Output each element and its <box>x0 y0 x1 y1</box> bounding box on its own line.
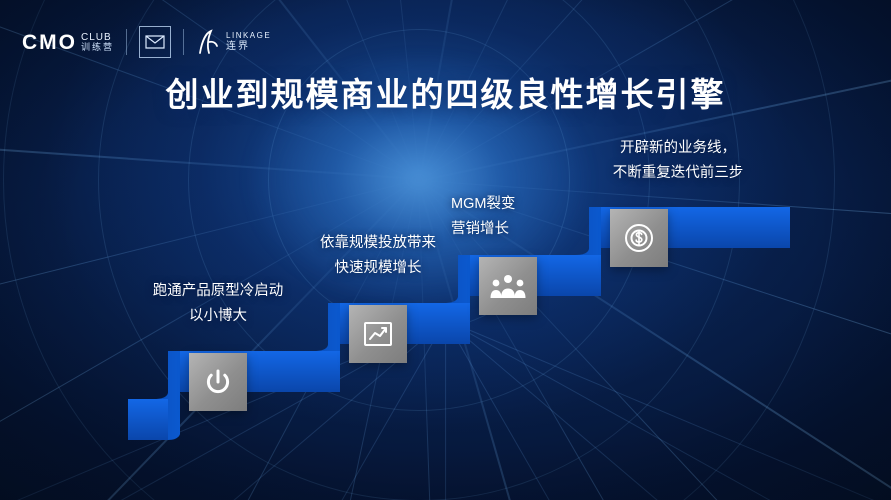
step-1-icon-tile[interactable] <box>189 353 247 411</box>
logo-divider-2 <box>183 29 184 55</box>
slide-canvas: CMO CLUB 训练营 LINKAGE 连界 创业到规模商业的 <box>0 0 891 500</box>
linkage-cn-text: 连界 <box>226 41 271 52</box>
target-dollar-icon <box>623 222 655 254</box>
step-4-icon-tile[interactable] <box>610 209 668 267</box>
people-group-icon <box>490 272 526 300</box>
linkage-en-text: LINKAGE <box>226 32 271 41</box>
step-2-caption: 依靠规模投放带来 快速规模增长 <box>288 231 468 282</box>
power-icon <box>203 367 233 397</box>
step-1-caption-line-1: 跑通产品原型冷启动 <box>128 279 308 304</box>
step-3-icon-tile[interactable] <box>479 257 537 315</box>
cmo-logo-text: CMO <box>22 32 77 53</box>
step-4-caption-line-2: 不断重复迭代前三步 <box>563 161 793 186</box>
step-2-icon-tile[interactable] <box>349 305 407 363</box>
linkage-mark-icon <box>196 29 220 55</box>
page-title: 创业到规模商业的四级良性增长引擎 <box>0 68 891 116</box>
step-1-caption: 跑通产品原型冷启动 以小博大 <box>128 279 308 330</box>
step-3-caption: MGM裂变 营销增长 <box>451 192 601 243</box>
step-3-caption-line-1: MGM裂变 <box>451 192 601 217</box>
envelope-icon <box>145 35 165 49</box>
logo-divider-1 <box>126 29 127 55</box>
step-2-caption-line-1: 依靠规模投放带来 <box>288 231 468 256</box>
cmo-cn-text: 训练营 <box>81 43 114 52</box>
step-2-caption-line-2: 快速规模增长 <box>288 256 468 281</box>
brand-logo-bar: CMO CLUB 训练营 LINKAGE 连界 <box>22 22 271 62</box>
cmo-club-logo: CMO CLUB 训练营 <box>22 32 114 53</box>
step-4-caption: 开辟新的业务线， 不断重复迭代前三步 <box>563 136 793 187</box>
step-4-caption-line-1: 开辟新的业务线， <box>563 136 793 161</box>
step-1-caption-line-2: 以小博大 <box>128 304 308 329</box>
growth-chart-icon <box>362 319 394 349</box>
linkage-logo: LINKAGE 连界 <box>196 29 271 55</box>
step-3-caption-line-2: 营销增长 <box>451 217 601 242</box>
step-base-tail <box>128 399 168 440</box>
envelope-mark-icon <box>139 26 171 58</box>
